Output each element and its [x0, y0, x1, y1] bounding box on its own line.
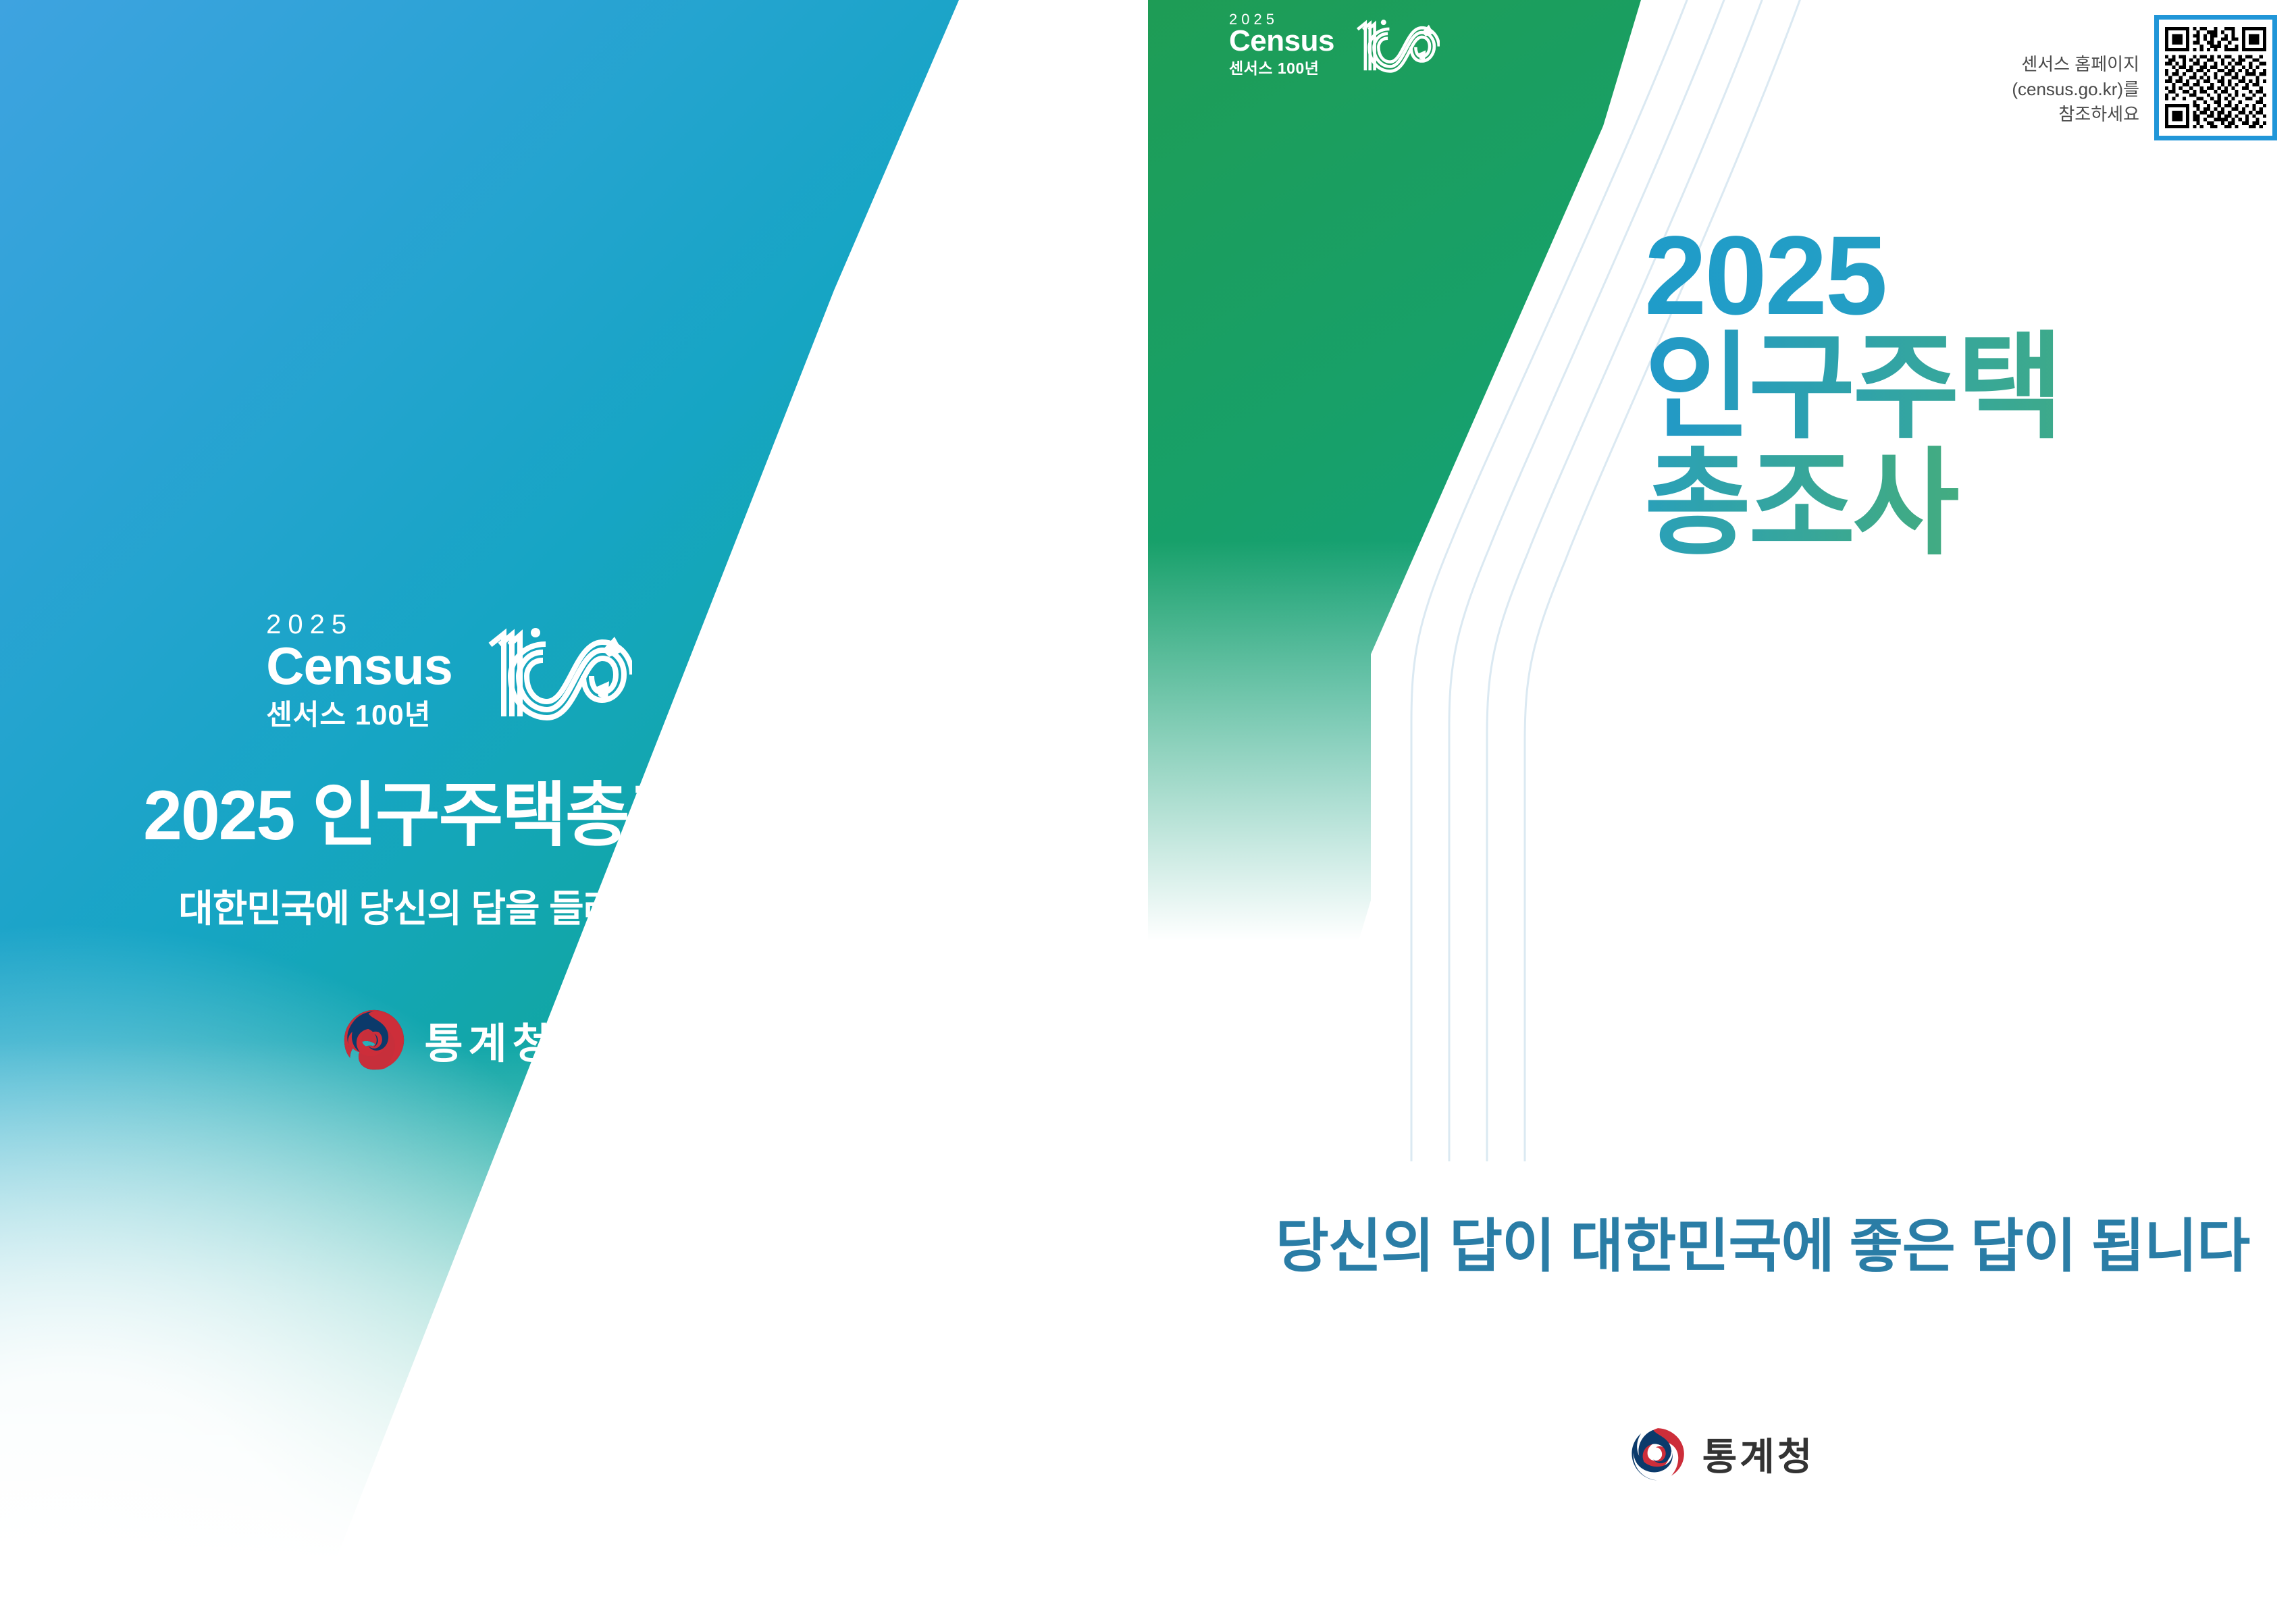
qr-info-block[interactable]: 센서스 홈페이지 (census.go.kr)를 참조하세요 [2012, 15, 2277, 140]
photo-label-suffix: 으로 [1979, 710, 2005, 731]
census-korean-label: 센서스 100년 [266, 692, 452, 733]
photo-label-policy: 대중교통 활성화 정책 [1653, 583, 1829, 617]
photo-label-policy: 다문화 지원 정책 [2201, 483, 2225, 517]
census-year: 2025 [266, 611, 452, 638]
qr-caption-line3: 참조하세요 [2012, 102, 2139, 127]
photo-card: 서지원씨의 답이 경력단절여성 지원 정책 으로 [2242, 668, 2296, 959]
back-cover-content: 2025 Census 센서스 100년 [0, 611, 898, 1076]
front-title-year: 2025 [1644, 223, 2171, 330]
photo-career-woman-badge [2242, 668, 2296, 959]
census-wordmark-front: 2025 Census 센서스 100년 [1229, 12, 1334, 78]
qr-code-icon [2165, 26, 2266, 130]
back-cover-bottom-fade [0, 1040, 1189, 1607]
front-cover-title: 2025 인구주택 총조사 [1644, 223, 2171, 562]
photo-label: 대한씨의 답이 다문화 지원 정책 으로 [2201, 459, 2257, 517]
taegeuk-icon [1629, 1425, 1688, 1483]
qr-caption: 센서스 홈페이지 (census.go.kr)를 참조하세요 [2012, 15, 2139, 127]
census-100-infinity-icon [470, 622, 632, 723]
qr-caption-line1: 센서스 홈페이지 [2012, 52, 2139, 77]
front-cover-slogan: 당신의 답이 대한민국에 좋은 답이 됩니다 [1256, 1198, 2269, 1283]
photo-label-suffix: 으로 [2230, 490, 2257, 510]
back-cover-panel: 2025 Census 센서스 100년 [0, 0, 1189, 1607]
photo-label-name: 서지원씨의 답이 [2242, 891, 2249, 913]
taegeuk-icon [342, 1007, 407, 1072]
back-cover-title: 2025 인구주택총조사 [0, 758, 898, 860]
census-100-logo-lockup: 2025 Census 센서스 100년 [266, 611, 632, 733]
brochure-spread: 2025 Census 센서스 100년 [0, 0, 2296, 1607]
qr-caption-line2: (census.go.kr)를 [2012, 77, 2139, 102]
qr-code[interactable] [2154, 15, 2277, 140]
census-korean-label-front: 센서스 100년 [1229, 55, 1334, 78]
government-logo-back: 통계청 [342, 1007, 556, 1072]
photo-label: 김유빈씨의 답이 1인가구 주거지원 정책 으로 [1950, 556, 2167, 614]
photo-label-suffix: 으로 [1835, 590, 1861, 610]
photo-label-suffix: 으로 [2141, 587, 2168, 608]
photo-label-policy: 1인가구 주거지원 정책 [1950, 581, 2136, 614]
photo-label: 서지원씨의 답이 경력단절여성 지원 정책 으로 [2242, 891, 2249, 949]
census-word-front: Census [1229, 27, 1334, 55]
agency-name-back: 통계청 [424, 1009, 556, 1070]
census-word: Census [266, 641, 452, 691]
photo-label-policy: 청년고용 촉진 정책 [1848, 31, 2009, 65]
photo-label-suffix: 으로 [2242, 922, 2249, 943]
front-title-line1: 인구주택 [1644, 330, 2171, 446]
census-100-logo-lockup-front: 2025 Census 센서스 100년 [1229, 12, 1440, 78]
back-cover-subtitle: 대한민국에 당신의 답을 들려주세요 [0, 878, 898, 933]
front-title-line2: 총조사 [1644, 446, 2171, 562]
photo-label-name: 대한씨의 답이 [2201, 459, 2257, 481]
photo-card: 박현주씨의 답이 청년고용 촉진 정책 으로 [1749, 0, 2046, 216]
front-cover-panel: 2025 Census 센서스 100년 [1148, 0, 2296, 1607]
photo-card: 대한씨의 답이 다문화 지원 정책 으로 [2201, 290, 2296, 527]
census-100-infinity-icon-front [1345, 16, 1440, 74]
government-logo-front: 통계청 [1148, 1425, 2296, 1483]
census-wordmark: 2025 Census 센서스 100년 [266, 611, 452, 733]
agency-name-front: 통계청 [1702, 1427, 1815, 1481]
